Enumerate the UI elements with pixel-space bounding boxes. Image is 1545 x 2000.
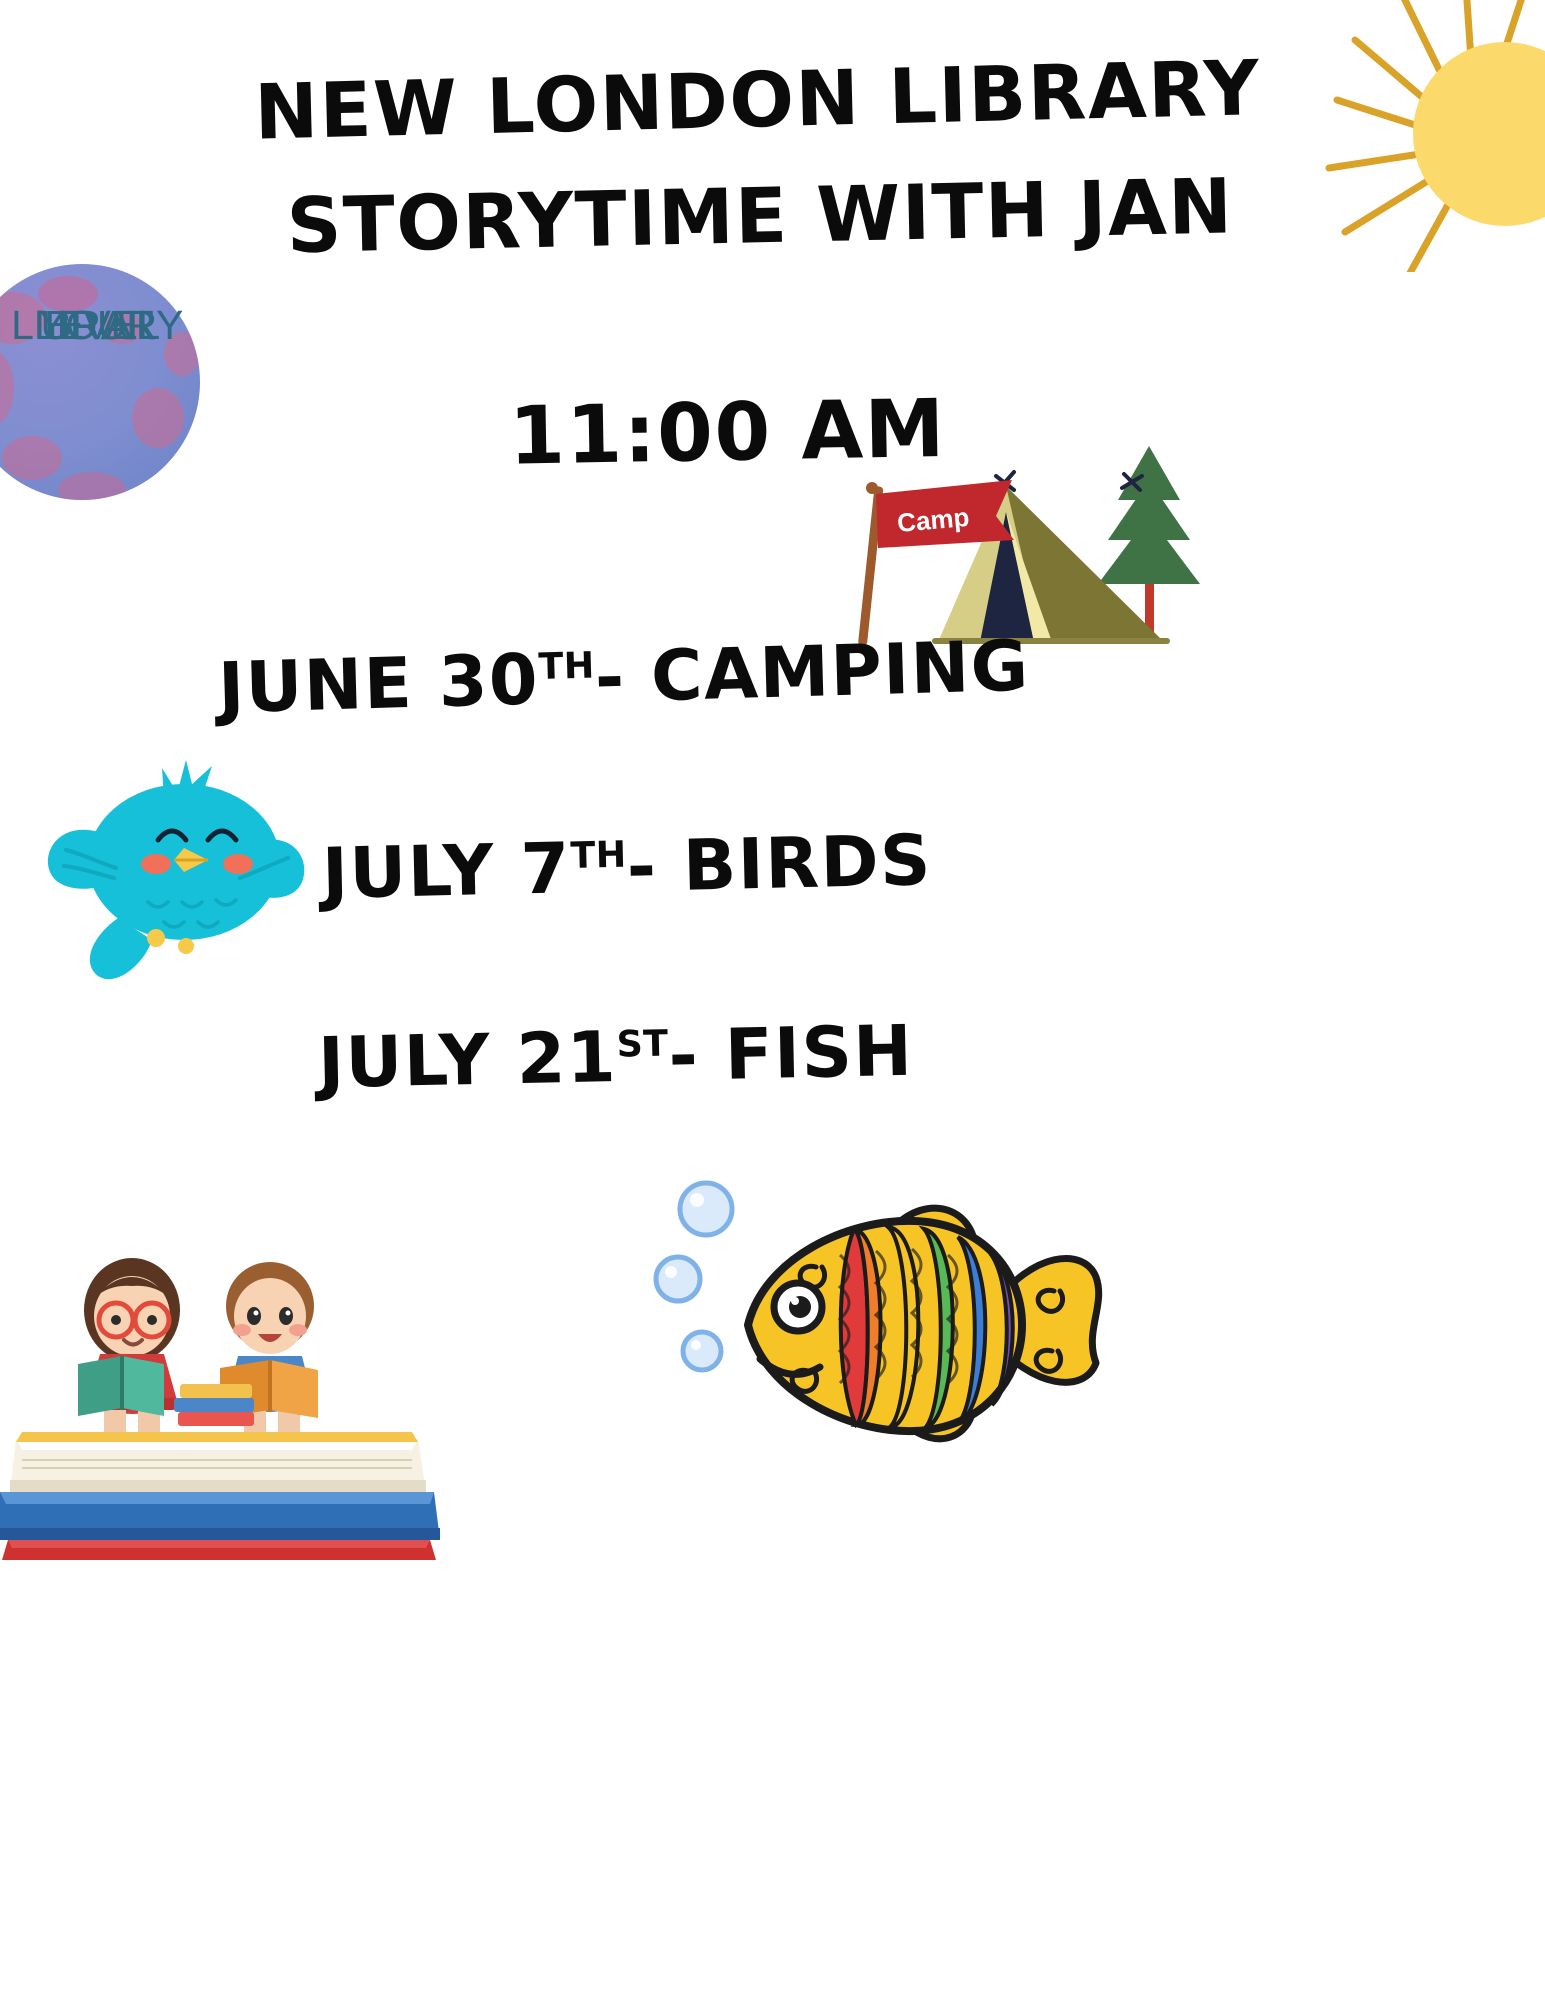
session-camping: June 30th- Camping [217,631,1030,724]
poster-canvas: LEVEL UP AT YOUR LIBRARY New London Libr… [0,0,1545,2000]
badge-line-4: LIBRARY [0,306,222,346]
kids-reading-on-books-illustration [0,1120,452,1560]
session-camping-ordinal: th [538,643,595,688]
blue-bird-illustration [36,742,316,1000]
rainbow-fish-illustration [640,1155,1120,1495]
session-birds: July 7th- Birds [321,825,932,909]
session-camping-date: June 30 [217,638,540,729]
session-fish-separator: - [668,1014,726,1097]
session-birds-ordinal: th [570,833,627,877]
session-birds-date: July 7 [321,827,572,915]
session-fish-topic: Fish [724,1010,914,1096]
session-fish: July 21st- Fish [317,1016,914,1098]
session-fish-date: July 21 [317,1016,618,1104]
bubble-group [656,1183,732,1370]
session-camping-separator: - [594,635,653,719]
session-camping-topic: Camping [650,625,1031,718]
camp-flag-label: Camp [896,502,971,538]
session-fish-ordinal: st [616,1022,669,1066]
session-birds-topic: Birds [682,819,933,907]
event-time: 11:00 AM [0,379,1545,486]
session-birds-separator: - [626,825,684,908]
